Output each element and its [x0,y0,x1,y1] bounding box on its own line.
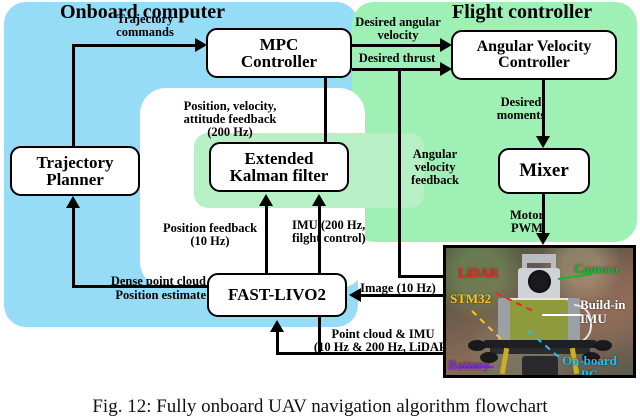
edge-planner-to-mpc-horizontal [72,44,198,47]
edge-angular-velocity-feedback-vertical [398,68,401,278]
arrowhead-fast-pointcloud [270,320,284,332]
edge-label-position-estimate: Position estimate [86,289,206,302]
edge-label-motor-pwm: Motor PWM [500,209,554,235]
block-trajectory-planner[interactable]: Trajectory Planner [10,146,140,196]
imu-pointer-icon [542,314,582,316]
arrowhead-mixer [536,136,550,148]
edge-pointcloud-to-fast-vertical [276,330,279,354]
edge-planner-to-mpc-vertical [72,44,75,148]
edge-label-dense-point-cloud: Dense point cloud [86,275,206,288]
edge-label-desired-angular-velocity: Desired angular velocity [350,16,446,42]
photo-label-lidar: LiDAR [458,266,498,279]
flight-controller-title: Flight controller [452,1,592,24]
arrowhead-planner [66,196,80,208]
photo-label-camera: Camera [574,262,619,275]
edge-drone-to-feedback-bus [398,275,446,278]
edge-label-position-feedback: Position feedback (10 Hz) [148,222,272,248]
edge-mpc-to-avc-angular [352,44,442,47]
photo-label-battery: Battery [448,358,490,371]
edge-label-desired-moments: Desired moments [489,96,553,122]
edge-label-pose-feedback: Position, velocity, attitude feedback (2… [155,100,305,139]
drone-battery-pack [522,356,558,378]
block-mixer-label: Mixer [519,161,569,180]
edge-angular-velocity-feedback-horizontal [398,68,442,71]
photo-label-build-in-imu: Build-in IMU [580,298,626,325]
drone-body [510,300,568,344]
block-mpc-controller-label: MPC Controller [241,36,317,71]
edge-fast-to-planner-vertical [72,208,75,286]
block-extended-kalman-filter-label: Extended Kalman filter [230,150,329,185]
photo-label-stm32: STM32 [450,292,491,305]
block-angular-velocity-controller-label: Angular Velocity Controller [477,39,592,72]
edge-label-image: Image (10 Hz) [355,282,441,295]
block-fast-livo2[interactable]: FAST-LIVO2 [207,273,347,317]
block-trajectory-planner-label: Trajectory Planner [36,154,113,189]
figure-caption: Fig. 12: Fully onboard UAV navigation al… [0,396,640,418]
edge-label-trajectory-commands: Trajectory commands [92,13,198,39]
edge-label-desired-thrust: Desired thrust [351,52,443,65]
arrowhead-ekf-position [259,194,273,206]
uav-photo: LiDAR Camera STM32 Build-in IMU Battery … [443,245,636,378]
block-mixer[interactable]: Mixer [498,148,590,194]
drone-camera-lens [528,270,551,293]
drone-motor-2 [594,340,612,351]
block-angular-velocity-controller[interactable]: Angular Velocity Controller [451,30,617,80]
figure-canvas: Onboard computer Flight controller MPC C… [0,0,640,416]
block-mpc-controller[interactable]: MPC Controller [206,28,352,78]
block-extended-kalman-filter[interactable]: Extended Kalman filter [209,142,349,192]
block-fast-livo2-label: FAST-LIVO2 [228,286,326,303]
arrowhead-ekf-imu [312,194,326,206]
photo-label-onboard-pc: On-board PC [562,354,617,378]
edge-label-imu-feedback: IMU (200 Hz, filght control) [292,219,386,245]
drone-motor-1 [468,340,486,351]
edge-label-angular-velocity-feedback: Angular velocity feedback [402,148,468,187]
